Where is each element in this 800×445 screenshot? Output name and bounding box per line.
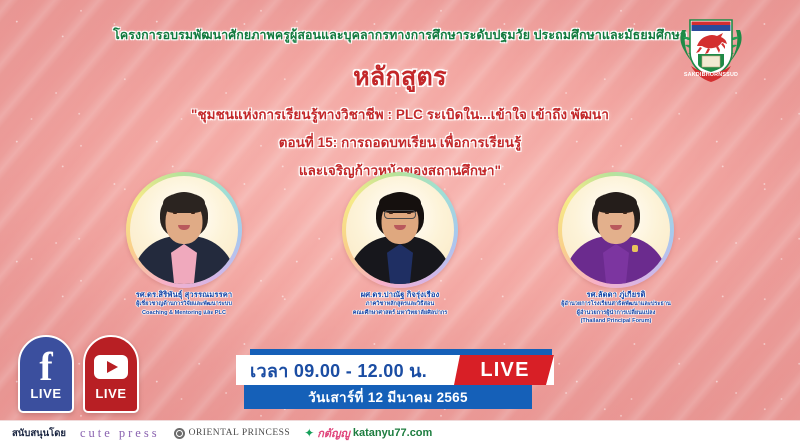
speaker-name-3: รศ.ลัดดา ภู่เกียรติ (550, 290, 682, 300)
speaker-name-1: รศ.ดร.สิริพันธุ์ สุวรรณมรรคา (118, 290, 250, 300)
schedule-date-row: วันเสาร์ที่ 12 มีนาคม 2565 (244, 385, 532, 409)
oriental-princess-wordmark: ORIENTAL PRINCESS (189, 428, 291, 438)
live-status-badge: LIVE (454, 355, 554, 385)
youtube-live-label: LIVE (95, 386, 126, 401)
sponsor-logo-katanyu: ✦ กตัญญู katanyu77.com (304, 424, 432, 442)
speaker-role-2-line-1: ภาควิชาหลักสูตรและวิธีสอน (334, 300, 466, 308)
youtube-live-button[interactable]: LIVE (83, 335, 139, 413)
youtube-icon (94, 350, 128, 384)
schedule-banner: เวลา 09.00 - 12.00 น. LIVE วันเสาร์ที่ 1… (236, 349, 554, 409)
facebook-live-button[interactable]: f LIVE (18, 335, 74, 413)
facebook-icon: f (39, 350, 52, 384)
katanyu-leaf-icon: ✦ (304, 426, 314, 440)
poster-canvas: SAKDIBHORNSSUD โครงการอบรมพัฒนาศักยภาพคร… (0, 0, 800, 445)
speaker-name-2: ผศ.ดร.ปาณัฐ กิจรุ่งเรือง (334, 290, 466, 300)
speaker-role-2-line-2: คณะศึกษาศาสตร์ มหาวิทยาลัยศิลปากร (334, 309, 466, 317)
sponsor-label: สนับสนุนโดย (12, 426, 66, 441)
crest-wordmark: SAKDIBHORNSSUD (684, 72, 738, 78)
sakdibhornssud-crest-icon: SAKDIBHORNSSUD (674, 6, 748, 84)
speaker-portrait-ring-1 (126, 172, 242, 288)
oriental-princess-mark-icon (174, 428, 185, 439)
speaker-portrait-1 (130, 176, 238, 284)
katanyu-url: katanyu77.com (353, 427, 432, 439)
speaker-card-3: รศ.ลัดดา ภู่เกียรติ ผู้อำนวยการโรงเรียนส… (550, 172, 682, 325)
speaker-portrait-2 (346, 176, 454, 284)
speaker-role-3-line-1: ผู้อำนวยการโรงเรียนสาธิตพัฒนาและประธาน (550, 300, 682, 308)
speaker-role-1-line-2: Coaching & Mentoring และ PLC (118, 309, 250, 317)
speaker-role-3-line-3: (Thailand Principal Forum) (550, 317, 682, 325)
event-time: เวลา 09.00 - 12.00 น. (250, 356, 427, 385)
speaker-card-1: รศ.ดร.สิริพันธุ์ สุวรรณมรรคา ผู้เชี่ยวชา… (118, 172, 250, 325)
event-date: วันเสาร์ที่ 12 มีนาคม 2565 (308, 386, 468, 408)
sponsor-logo-cute-press: cute press (80, 426, 160, 441)
sponsor-footer: สนับสนุนโดย cute press ORIENTAL PRINCESS… (0, 420, 800, 445)
speaker-card-2: ผศ.ดร.ปาณัฐ กิจรุ่งเรือง ภาควิชาหลักสูตร… (334, 172, 466, 325)
katanyu-thai-wordmark: กตัญญู (317, 424, 350, 442)
speaker-portrait-ring-2 (342, 172, 458, 288)
sponsor-logo-oriental-princess: ORIENTAL PRINCESS (174, 428, 291, 439)
live-badge-label: LIVE (480, 359, 529, 382)
schedule-time-row: เวลา 09.00 - 12.00 น. LIVE (236, 355, 554, 385)
speaker-portrait-3 (562, 176, 670, 284)
speaker-role-1-line-1: ผู้เชี่ยวชาญด้านการวิจัยและพัฒนาระบบ (118, 300, 250, 308)
speakers-row: รศ.ดร.สิริพันธุ์ สุวรรณมรรคา ผู้เชี่ยวชา… (0, 172, 800, 325)
social-buttons: f LIVE LIVE (18, 335, 139, 413)
course-subtitle-line-1: "ชุมชนแห่งการเรียนรู้ทางวิชาชีพ : PLC ระ… (0, 104, 800, 125)
facebook-live-label: LIVE (30, 386, 61, 401)
course-subtitle-line-2: ตอนที่ 15: การถอดบทเรียน เพื่อการเรียนรู… (0, 132, 800, 153)
speaker-portrait-ring-3 (558, 172, 674, 288)
speaker-role-3-line-2: ผู้อำนวยการผู้นำการเปลี่ยนแปลง (550, 309, 682, 317)
